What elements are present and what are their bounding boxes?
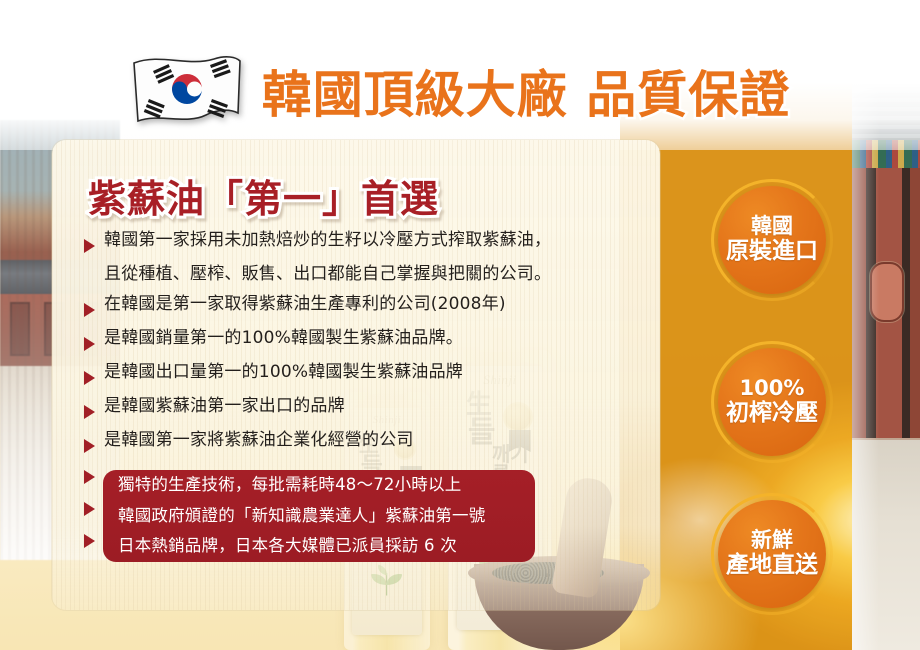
badge-line1: 韓國 [751,215,793,239]
list-item-continuation: 且從種植、壓榨、販售、出口都能自己掌握與把關的公司。 [104,266,604,283]
triangle-bullet-icon [84,502,95,516]
list-item-label: 是韓國紫蘇油第一家出口的品牌 [104,398,345,415]
list-item: 在韓國是第一家取得紫蘇油生產專利的公司(2008年) [84,296,604,317]
south-korea-flag-icon [130,51,244,131]
list-item: 韓國第一家採用未加熱焙炒的生籽以冷壓方式搾取紫蘇油， [84,232,604,253]
badge-fresh-direct: 新鮮 產地直送 [718,500,826,608]
triangle-bullet-icon [84,337,95,351]
list-item-label: 且從種植、壓榨、販售、出口都能自己掌握與把關的公司。 [104,266,604,283]
triangle-bullet-icon [84,439,95,453]
list-item: 是韓國第一家將紫蘇油企業化經營的公司 [84,432,604,453]
highlight-box-markers [84,470,95,566]
highlight-line: 韓國政府頒證的「新知識農業達人」紫蘇油第一號 [118,508,485,525]
triangle-bullet-icon [84,371,95,385]
badge-line2: 產地直送 [726,553,818,579]
triangle-bullet-icon [84,303,95,317]
badge-line2: 原裝進口 [726,239,818,265]
page-title: 韓國頂級大廠 品質保證 [262,55,790,127]
list-item: 是韓國銷量第一的100%韓國製生紫蘇油品牌。 [84,330,604,351]
badge-imported: 韓國 原裝進口 [718,186,826,294]
triangle-bullet-icon [84,470,95,484]
badge-cold-pressed: 100% 初榨冷壓 [718,348,826,456]
highlight-line: 獨特的生產技術，每批需耗時48～72小時以上 [118,477,485,494]
poster-canvas: Shinji 生 들 깨기름 Shinji [0,0,920,650]
highlight-line: 日本熱銷品牌，日本各大媒體已派員採訪 6 次 [118,538,485,555]
list-item: 是韓國紫蘇油第一家出口的品牌 [84,398,604,419]
list-item-label: 韓國第一家採用未加熱焙炒的生籽以冷壓方式搾取紫蘇油， [104,232,551,249]
header: 韓國頂級大廠 品質保證 [0,46,920,136]
highlight-box-lines: 獨特的生產技術，每批需耗時48～72小時以上 韓國政府頒證的「新知識農業達人」紫… [118,477,485,569]
badge-line1: 新鮮 [751,529,793,553]
list-item: 是韓國出口量第一的100%韓國製生紫蘇油品牌 [84,364,604,385]
badge-line2: 初榨冷壓 [726,401,818,427]
page-subtitle: 紫蘇油「第一」首選 [88,168,439,223]
list-item-label: 是韓國第一家將紫蘇油企業化經營的公司 [104,432,414,449]
feature-list: 韓國第一家採用未加熱焙炒的生籽以冷壓方式搾取紫蘇油， 且從種植、壓榨、販售、出口… [84,232,604,466]
triangle-bullet-icon [84,239,95,253]
triangle-bullet-icon [84,405,95,419]
list-item-label: 在韓國是第一家取得紫蘇油生產專利的公司(2008年) [104,296,506,313]
triangle-bullet-icon [84,534,95,548]
list-item-label: 是韓國銷量第一的100%韓國製生紫蘇油品牌。 [104,330,463,347]
list-item-label: 是韓國出口量第一的100%韓國製生紫蘇油品牌 [104,364,463,381]
badge-line1: 100% [740,377,805,401]
